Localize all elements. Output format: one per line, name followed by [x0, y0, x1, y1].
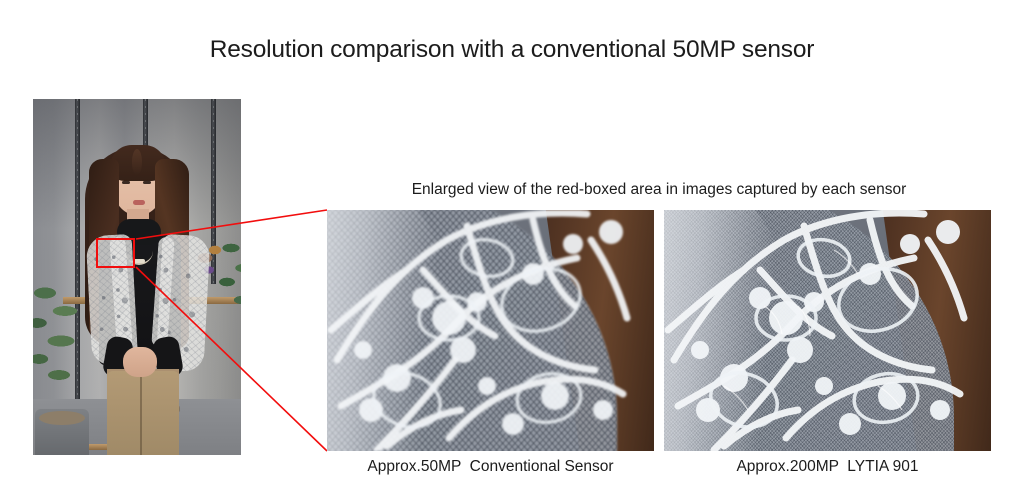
person-hands — [123, 347, 157, 377]
person-mouth — [133, 200, 145, 205]
source-photo — [33, 99, 241, 455]
enlarged-panel-lytia-901-200mp — [664, 210, 991, 451]
enlarged-panel-conventional-50mp — [327, 210, 654, 451]
person-trousers — [107, 371, 179, 455]
photo-plant-soil — [39, 411, 85, 425]
person-eye-left — [122, 181, 130, 184]
page-title: Resolution comparison with a conventiona… — [0, 36, 1024, 64]
photo-plant-left — [33, 279, 91, 389]
person-eye-right — [143, 181, 151, 184]
red-crop-box — [96, 238, 135, 268]
panel-label-conventional: Approx.50MP Conventional Sensor — [327, 458, 654, 476]
panel-lace-floral-pattern — [664, 210, 991, 451]
enlarged-view-caption: Enlarged view of the red-boxed area in i… — [327, 181, 991, 199]
panel-lace-floral-pattern — [327, 210, 654, 451]
panel-label-lytia: Approx.200MP LYTIA 901 — [664, 458, 991, 476]
